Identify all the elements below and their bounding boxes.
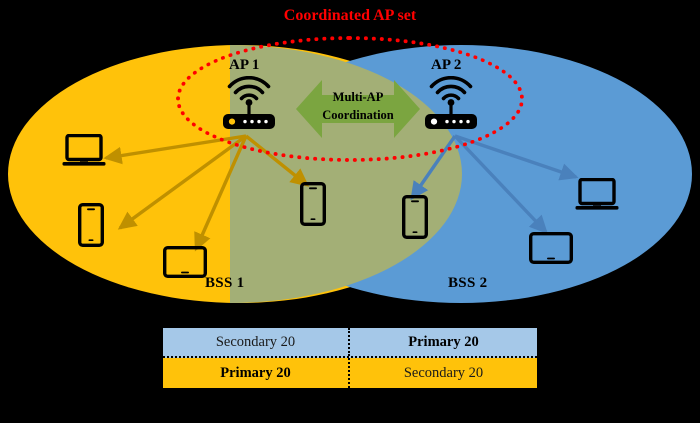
channel-cell: Secondary 20: [163, 328, 350, 356]
smartphone-icon: [78, 203, 104, 252]
tablet-icon: [163, 246, 207, 283]
tablet-icon: [529, 232, 573, 269]
smartphone-icon: [300, 182, 326, 231]
channel-cell: Primary 20: [163, 358, 350, 388]
bss1-label: BSS 1: [205, 275, 244, 292]
smartphone-icon: [402, 195, 428, 244]
channel-allocation-table: Secondary 20 Primary 20 Primary 20 Secon…: [162, 327, 538, 387]
table-row: Secondary 20 Primary 20: [163, 328, 537, 358]
laptop-icon: [62, 134, 110, 175]
channel-cell: Primary 20: [350, 328, 537, 356]
coordinated-ap-set-title: Coordinated AP set: [0, 7, 700, 25]
laptop-icon: [575, 178, 623, 219]
channel-cell: Secondary 20: [350, 358, 537, 388]
coordinated-ap-set-outline: [176, 36, 524, 162]
bss2-label: BSS 2: [448, 275, 487, 292]
table-row: Primary 20 Secondary 20: [163, 358, 537, 388]
diagram-canvas: Multi-AP Coordination AP 1: [0, 0, 700, 423]
